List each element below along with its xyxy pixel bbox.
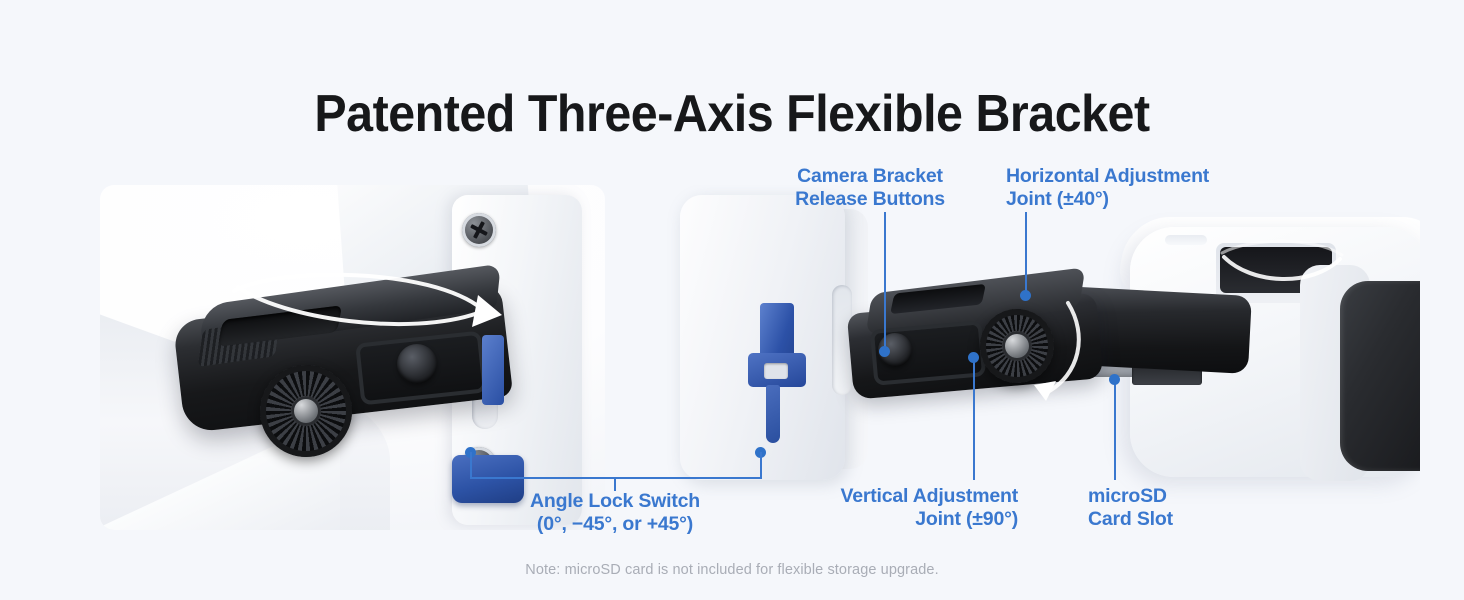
leader-line-microsd (1114, 382, 1116, 480)
callout-microsd-card-slot: microSD Card Slot (1088, 485, 1258, 531)
rotation-arrow-icon-vertical (960, 289, 1110, 409)
rotation-arrow-icon-horizontal (1208, 237, 1358, 317)
leader-dot-microsd (1109, 374, 1120, 385)
mount-clip-hole (764, 363, 788, 379)
callout-vertical-adjustment-joint: Vertical Adjustment Joint (±90°) (800, 485, 1018, 531)
leader-dot-release-buttons (879, 346, 890, 357)
leader-stem-angle-lock-center (614, 477, 616, 491)
leader-line-horizontal-joint (1025, 212, 1027, 296)
callout-angle-lock-switch: Angle Lock Switch (0°, −45°, or +45°) (495, 490, 735, 536)
leader-bar-angle-lock (470, 477, 762, 479)
leader-dot-vertical-joint (968, 352, 979, 363)
camera-top-notch (1165, 235, 1207, 245)
callout-camera-bracket-release-buttons: Camera Bracket Release Buttons (770, 165, 970, 211)
rotation-arrow-icon (220, 265, 520, 385)
leader-stem-angle-lock-right (760, 452, 762, 478)
page-title: Patented Three-Axis Flexible Bracket (51, 88, 1413, 140)
mount-clip-tail (766, 385, 780, 443)
footnote-note: Note: microSD card is not included for f… (0, 562, 1464, 578)
photo-right-exploded (660, 185, 1420, 530)
mount-screw-top (462, 213, 496, 247)
callout-horizontal-adjustment-joint: Horizontal Adjustment Joint (±40°) (1006, 165, 1266, 211)
leader-stem-angle-lock-left (470, 452, 472, 478)
leader-dot-horizontal-joint (1020, 290, 1031, 301)
leader-line-release-buttons (884, 212, 886, 352)
infographic-root: Patented Three-Axis Flexible Bracket (0, 0, 1464, 600)
leader-line-vertical-joint (973, 360, 975, 480)
